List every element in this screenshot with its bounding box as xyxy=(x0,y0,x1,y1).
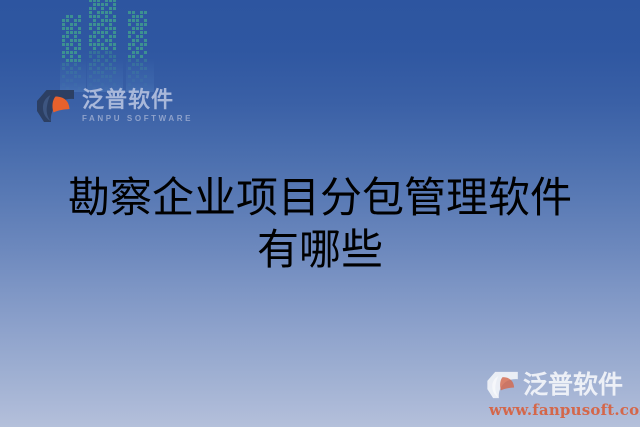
skyline-pixel xyxy=(78,51,81,54)
skyline-pixel xyxy=(66,71,69,74)
skyline-pixel xyxy=(89,23,92,26)
skyline-pixel xyxy=(105,43,108,46)
skyline-pixel xyxy=(78,63,81,66)
skyline-pixel xyxy=(70,19,73,22)
skyline-pixel xyxy=(74,67,77,70)
skyline-pixel xyxy=(101,63,104,66)
skyline-pixel xyxy=(144,63,147,66)
skyline-pixel xyxy=(70,35,73,38)
skyline-pixel xyxy=(140,51,143,54)
watermark-logo-row: 泛普软件 xyxy=(486,370,632,400)
skyline-pixel xyxy=(74,63,77,66)
skyline-pixel xyxy=(105,19,108,22)
skyline-pixel xyxy=(136,51,139,54)
skyline-pixel xyxy=(132,23,135,26)
skyline-pixel xyxy=(144,71,147,74)
skyline-pixel xyxy=(101,31,104,34)
skyline-pixel xyxy=(105,79,108,82)
skyline-pixel xyxy=(140,47,143,50)
skyline-pixel xyxy=(70,15,73,18)
skyline-pixel xyxy=(78,75,81,78)
brand-name-cn: 泛普软件 xyxy=(82,89,193,111)
skyline-pixel xyxy=(101,15,104,18)
skyline-pixel xyxy=(128,51,131,54)
skyline-pixel xyxy=(66,15,69,18)
skyline-pixel xyxy=(93,59,96,62)
skyline-pixel xyxy=(105,67,108,70)
skyline-pixel xyxy=(74,71,77,74)
skyline-pixel xyxy=(140,79,143,82)
skyline-pixel xyxy=(105,11,108,14)
skyline-pixel xyxy=(105,55,108,58)
skyline-pixel xyxy=(105,23,108,26)
skyline-pixel xyxy=(144,51,147,54)
skyline-pixel xyxy=(101,0,104,2)
skyline-pixel xyxy=(97,3,100,6)
skyline-pixel xyxy=(140,67,143,70)
skyline-pixel xyxy=(93,11,96,14)
skyline-pixel xyxy=(66,59,69,62)
skyline-pixel xyxy=(132,67,135,70)
watermark-name-cn: 泛普软件 xyxy=(523,371,623,399)
skyline-pixel xyxy=(78,55,81,58)
skyline-pixel xyxy=(74,51,77,54)
skyline-pixel xyxy=(132,47,135,50)
skyline-pixel xyxy=(97,71,100,74)
skyline-pixel xyxy=(136,19,139,22)
skyline-pixel xyxy=(62,63,65,66)
skyline-pixel xyxy=(70,47,73,50)
brand-logo: 泛普软件 FANPU SOFTWARE xyxy=(36,86,193,126)
skyline-pixel xyxy=(109,15,112,18)
skyline-pixel xyxy=(74,35,77,38)
skyline-pixel xyxy=(66,51,69,54)
skyline-tower-right xyxy=(128,11,152,90)
skyline-pixel xyxy=(101,67,104,70)
skyline-pixel xyxy=(109,55,112,58)
skyline-pixel xyxy=(70,39,73,42)
skyline-pixel xyxy=(97,7,100,10)
skyline-pixel xyxy=(132,63,135,66)
skyline-pixel xyxy=(105,35,108,38)
skyline-pixel xyxy=(109,43,112,46)
skyline-pixel xyxy=(93,27,96,30)
skyline-pixel xyxy=(136,11,139,14)
skyline-pixel xyxy=(132,59,135,62)
skyline-pixel xyxy=(144,39,147,42)
skyline-pixel xyxy=(101,39,104,42)
watermark: 泛普软件 www.fanpusoft.com xyxy=(486,370,632,419)
skyline-pixel xyxy=(113,23,116,26)
skyline-pixel xyxy=(136,63,139,66)
skyline-pixel xyxy=(136,71,139,74)
skyline-pixel xyxy=(101,75,104,78)
brand-name-en: FANPU SOFTWARE xyxy=(82,115,193,123)
skyline-pixel xyxy=(101,3,104,6)
skyline-pixel xyxy=(93,23,96,26)
skyline-pixel xyxy=(89,35,92,38)
skyline-pixel xyxy=(66,23,69,26)
skyline-pixel xyxy=(113,31,116,34)
skyline-pixel xyxy=(74,39,77,42)
skyline-pixel xyxy=(113,11,116,14)
skyline-pixel xyxy=(74,23,77,26)
skyline-pixel xyxy=(89,67,92,70)
skyline-pixel xyxy=(113,67,116,70)
skyline-pixel xyxy=(132,55,135,58)
skyline-pixel xyxy=(78,35,81,38)
skyline-pixel xyxy=(62,71,65,74)
skyline-pixel xyxy=(70,43,73,46)
skyline-pixel xyxy=(128,31,131,34)
skyline-pixel xyxy=(113,0,116,2)
skyline-pixel xyxy=(109,23,112,26)
skyline-pixel xyxy=(97,15,100,18)
skyline-pixel xyxy=(128,59,131,62)
skyline-pixel xyxy=(62,59,65,62)
pixel-city-skyline-icon xyxy=(62,6,152,90)
skyline-pixel xyxy=(89,63,92,66)
skyline-pixel xyxy=(93,63,96,66)
skyline-pixel xyxy=(89,19,92,22)
skyline-pixel xyxy=(78,79,81,82)
skyline-pixel xyxy=(93,0,96,2)
skyline-pixel xyxy=(74,75,77,78)
skyline-pixel xyxy=(109,11,112,14)
skyline-pixel xyxy=(132,27,135,30)
skyline-pixel xyxy=(105,31,108,34)
slide-canvas: 泛普软件 FANPU SOFTWARE 勘察企业项目分包管理软件 有哪些 泛普软… xyxy=(0,0,640,427)
skyline-pixel xyxy=(93,71,96,74)
skyline-pixel xyxy=(113,39,116,42)
skyline-pixel xyxy=(62,55,65,58)
skyline-pixel xyxy=(105,47,108,50)
skyline-pixel xyxy=(97,75,100,78)
skyline-pixel xyxy=(101,43,104,46)
skyline-pixel xyxy=(128,39,131,42)
skyline-pixel xyxy=(144,19,147,22)
skyline-pixel xyxy=(105,59,108,62)
skyline-pixel xyxy=(89,59,92,62)
skyline-pixel xyxy=(78,71,81,74)
skyline-pixel xyxy=(132,43,135,46)
skyline-pixel xyxy=(140,15,143,18)
skyline-pixel xyxy=(74,31,77,34)
skyline-pixel xyxy=(109,0,112,2)
skyline-pixel xyxy=(78,47,81,50)
skyline-pixel xyxy=(113,47,116,50)
skyline-pixel xyxy=(132,15,135,18)
skyline-pixel xyxy=(66,67,69,70)
skyline-pixel xyxy=(93,67,96,70)
skyline-pixel xyxy=(89,7,92,10)
skyline-pixel xyxy=(62,27,65,30)
skyline-pixel xyxy=(144,27,147,30)
skyline-pixel xyxy=(89,43,92,46)
skyline-pixel xyxy=(128,43,131,46)
skyline-pixel xyxy=(62,47,65,50)
skyline-pixel xyxy=(140,11,143,14)
skyline-pixel xyxy=(93,31,96,34)
skyline-pixel xyxy=(136,15,139,18)
skyline-pixel xyxy=(144,43,147,46)
skyline-pixel xyxy=(113,71,116,74)
skyline-pixel xyxy=(128,47,131,50)
skyline-pixel xyxy=(144,47,147,50)
skyline-pixel xyxy=(97,79,100,82)
skyline-pixel xyxy=(62,67,65,70)
skyline-pixel xyxy=(101,7,104,10)
skyline-pixel xyxy=(140,19,143,22)
skyline-pixel xyxy=(97,47,100,50)
skyline-pixel xyxy=(132,39,135,42)
skyline-pixel xyxy=(62,35,65,38)
skyline-pixel xyxy=(140,55,143,58)
skyline-pixel xyxy=(66,19,69,22)
skyline-pixel xyxy=(144,11,147,14)
skyline-pixel xyxy=(93,51,96,54)
skyline-pixel xyxy=(113,55,116,58)
skyline-pixel xyxy=(136,79,139,82)
skyline-pixel xyxy=(105,7,108,10)
skyline-pixel xyxy=(93,19,96,22)
skyline-pixel xyxy=(136,75,139,78)
skyline-pixel xyxy=(93,79,96,82)
skyline-pixel xyxy=(109,79,112,82)
skyline-pixel xyxy=(136,35,139,38)
skyline-pixel xyxy=(136,27,139,30)
skyline-pixel xyxy=(62,43,65,46)
skyline-pixel xyxy=(105,75,108,78)
skyline-pixel xyxy=(140,43,143,46)
watermark-url: www.fanpusoft.com xyxy=(486,401,632,419)
skyline-tower-left xyxy=(62,15,84,90)
skyline-pixel xyxy=(93,39,96,42)
skyline-pixel xyxy=(144,23,147,26)
skyline-pixel xyxy=(105,15,108,18)
skyline-pixel xyxy=(70,31,73,34)
skyline-pixel xyxy=(105,63,108,66)
skyline-pixel xyxy=(62,51,65,54)
skyline-pixel xyxy=(113,27,116,30)
skyline-pixel xyxy=(62,19,65,22)
skyline-pixel xyxy=(136,43,139,46)
skyline-pixel xyxy=(101,51,104,54)
skyline-pixel xyxy=(109,59,112,62)
skyline-tower-center xyxy=(89,0,121,90)
skyline-pixel xyxy=(93,55,96,58)
skyline-pixel xyxy=(136,67,139,70)
skyline-pixel xyxy=(89,51,92,54)
skyline-pixel xyxy=(105,0,108,2)
skyline-pixel xyxy=(101,71,104,74)
skyline-pixel xyxy=(132,31,135,34)
skyline-pixel xyxy=(109,75,112,78)
skyline-pixel xyxy=(132,71,135,74)
skyline-pixel xyxy=(128,11,131,14)
skyline-pixel xyxy=(62,15,65,18)
skyline-pixel xyxy=(70,23,73,26)
skyline-pixel xyxy=(78,19,81,22)
skyline-pixel xyxy=(66,79,69,82)
skyline-pixel xyxy=(66,55,69,58)
skyline-pixel xyxy=(132,35,135,38)
skyline-pixel xyxy=(97,11,100,14)
skyline-pixel xyxy=(113,19,116,22)
fanpu-logo-mark-icon xyxy=(36,89,76,123)
skyline-pixel xyxy=(97,23,100,26)
skyline-pixel xyxy=(128,71,131,74)
skyline-pixel xyxy=(128,19,131,22)
skyline-pixel xyxy=(70,55,73,58)
skyline-pixel xyxy=(93,47,96,50)
skyline-pixel xyxy=(132,51,135,54)
skyline-pixel xyxy=(66,63,69,66)
skyline-pixel xyxy=(109,27,112,30)
skyline-pixel xyxy=(113,3,116,6)
skyline-pixel xyxy=(97,51,100,54)
skyline-pixel xyxy=(144,15,147,18)
skyline-pixel xyxy=(140,35,143,38)
skyline-pixel xyxy=(144,55,147,58)
skyline-pixel xyxy=(74,15,77,18)
skyline-pixel xyxy=(70,51,73,54)
skyline-pixel xyxy=(78,23,81,26)
skyline-pixel xyxy=(97,43,100,46)
skyline-pixel xyxy=(89,11,92,14)
skyline-pixel xyxy=(105,39,108,42)
skyline-pixel xyxy=(136,23,139,26)
skyline-pixel xyxy=(89,0,92,2)
skyline-pixel xyxy=(70,63,73,66)
skyline-pixel xyxy=(89,47,92,50)
skyline-pixel xyxy=(101,79,104,82)
skyline-pixel xyxy=(105,3,108,6)
skyline-pixel xyxy=(113,35,116,38)
skyline-pixel xyxy=(78,27,81,30)
page-title-line-1: 勘察企业项目分包管理软件 xyxy=(0,172,640,224)
skyline-pixel xyxy=(78,15,81,18)
skyline-pixel xyxy=(74,79,77,82)
skyline-pixel xyxy=(105,27,108,30)
skyline-pixel xyxy=(70,59,73,62)
skyline-pixel xyxy=(97,39,100,42)
skyline-pixel xyxy=(109,47,112,50)
skyline-pixel xyxy=(113,51,116,54)
skyline-pixel xyxy=(101,55,104,58)
skyline-pixel xyxy=(97,27,100,30)
skyline-pixel xyxy=(109,19,112,22)
skyline-pixel xyxy=(113,7,116,10)
skyline-pixel xyxy=(97,31,100,34)
skyline-pixel xyxy=(144,79,147,82)
skyline-pixel xyxy=(97,19,100,22)
skyline-pixel xyxy=(132,19,135,22)
skyline-pixel xyxy=(101,23,104,26)
page-title: 勘察企业项目分包管理软件 有哪些 xyxy=(0,172,640,276)
skyline-pixel xyxy=(136,31,139,34)
skyline-pixel xyxy=(89,15,92,18)
skyline-pixel xyxy=(128,79,131,82)
skyline-pixel xyxy=(128,27,131,30)
skyline-pixel xyxy=(140,63,143,66)
skyline-pixel xyxy=(66,35,69,38)
skyline-pixel xyxy=(97,35,100,38)
skyline-pixel xyxy=(74,47,77,50)
skyline-pixel xyxy=(109,35,112,38)
skyline-pixel xyxy=(97,59,100,62)
skyline-pixel xyxy=(113,75,116,78)
skyline-pixel xyxy=(101,47,104,50)
skyline-pixel xyxy=(128,55,131,58)
skyline-pixel xyxy=(109,31,112,34)
skyline-pixel xyxy=(140,39,143,42)
skyline-pixel xyxy=(62,39,65,42)
skyline-pixel xyxy=(74,27,77,30)
skyline-pixel xyxy=(70,75,73,78)
skyline-pixel xyxy=(70,79,73,82)
skyline-pixel xyxy=(89,31,92,34)
skyline-pixel xyxy=(101,19,104,22)
skyline-pixel xyxy=(89,39,92,42)
skyline-pixel xyxy=(62,31,65,34)
skyline-pixel xyxy=(140,23,143,26)
skyline-pixel xyxy=(89,3,92,6)
skyline-pixel xyxy=(62,75,65,78)
skyline-pixel xyxy=(97,55,100,58)
skyline-pixel xyxy=(70,27,73,30)
skyline-pixel xyxy=(74,19,77,22)
skyline-pixel xyxy=(140,27,143,30)
skyline-pixel xyxy=(93,35,96,38)
skyline-pixel xyxy=(113,59,116,62)
skyline-pixel xyxy=(74,43,77,46)
skyline-pixel xyxy=(66,47,69,50)
skyline-pixel xyxy=(109,3,112,6)
skyline-pixel xyxy=(140,71,143,74)
skyline-pixel xyxy=(144,75,147,78)
skyline-pixel xyxy=(78,31,81,34)
skyline-pixel xyxy=(128,23,131,26)
skyline-pixel xyxy=(113,43,116,46)
skyline-pixel xyxy=(136,39,139,42)
skyline-pixel xyxy=(128,35,131,38)
skyline-pixel xyxy=(101,59,104,62)
skyline-pixel xyxy=(144,31,147,34)
skyline-pixel xyxy=(140,31,143,34)
skyline-pixel xyxy=(101,11,104,14)
skyline-pixel xyxy=(74,55,77,58)
brand-text-block: 泛普软件 FANPU SOFTWARE xyxy=(82,89,193,123)
skyline-pixel xyxy=(78,59,81,62)
skyline-pixel xyxy=(97,67,100,70)
skyline-pixel xyxy=(66,27,69,30)
skyline-pixel xyxy=(140,59,143,62)
skyline-pixel xyxy=(109,39,112,42)
skyline-pixel xyxy=(128,15,131,18)
skyline-pixel xyxy=(105,71,108,74)
skyline-pixel xyxy=(93,7,96,10)
skyline-pixel xyxy=(70,67,73,70)
skyline-pixel xyxy=(109,67,112,70)
skyline-pixel xyxy=(136,59,139,62)
skyline-pixel xyxy=(66,39,69,42)
skyline-pixel xyxy=(109,7,112,10)
page-title-line-2: 有哪些 xyxy=(0,224,640,276)
skyline-pixel xyxy=(97,63,100,66)
skyline-pixel xyxy=(70,71,73,74)
skyline-pixel xyxy=(128,75,131,78)
